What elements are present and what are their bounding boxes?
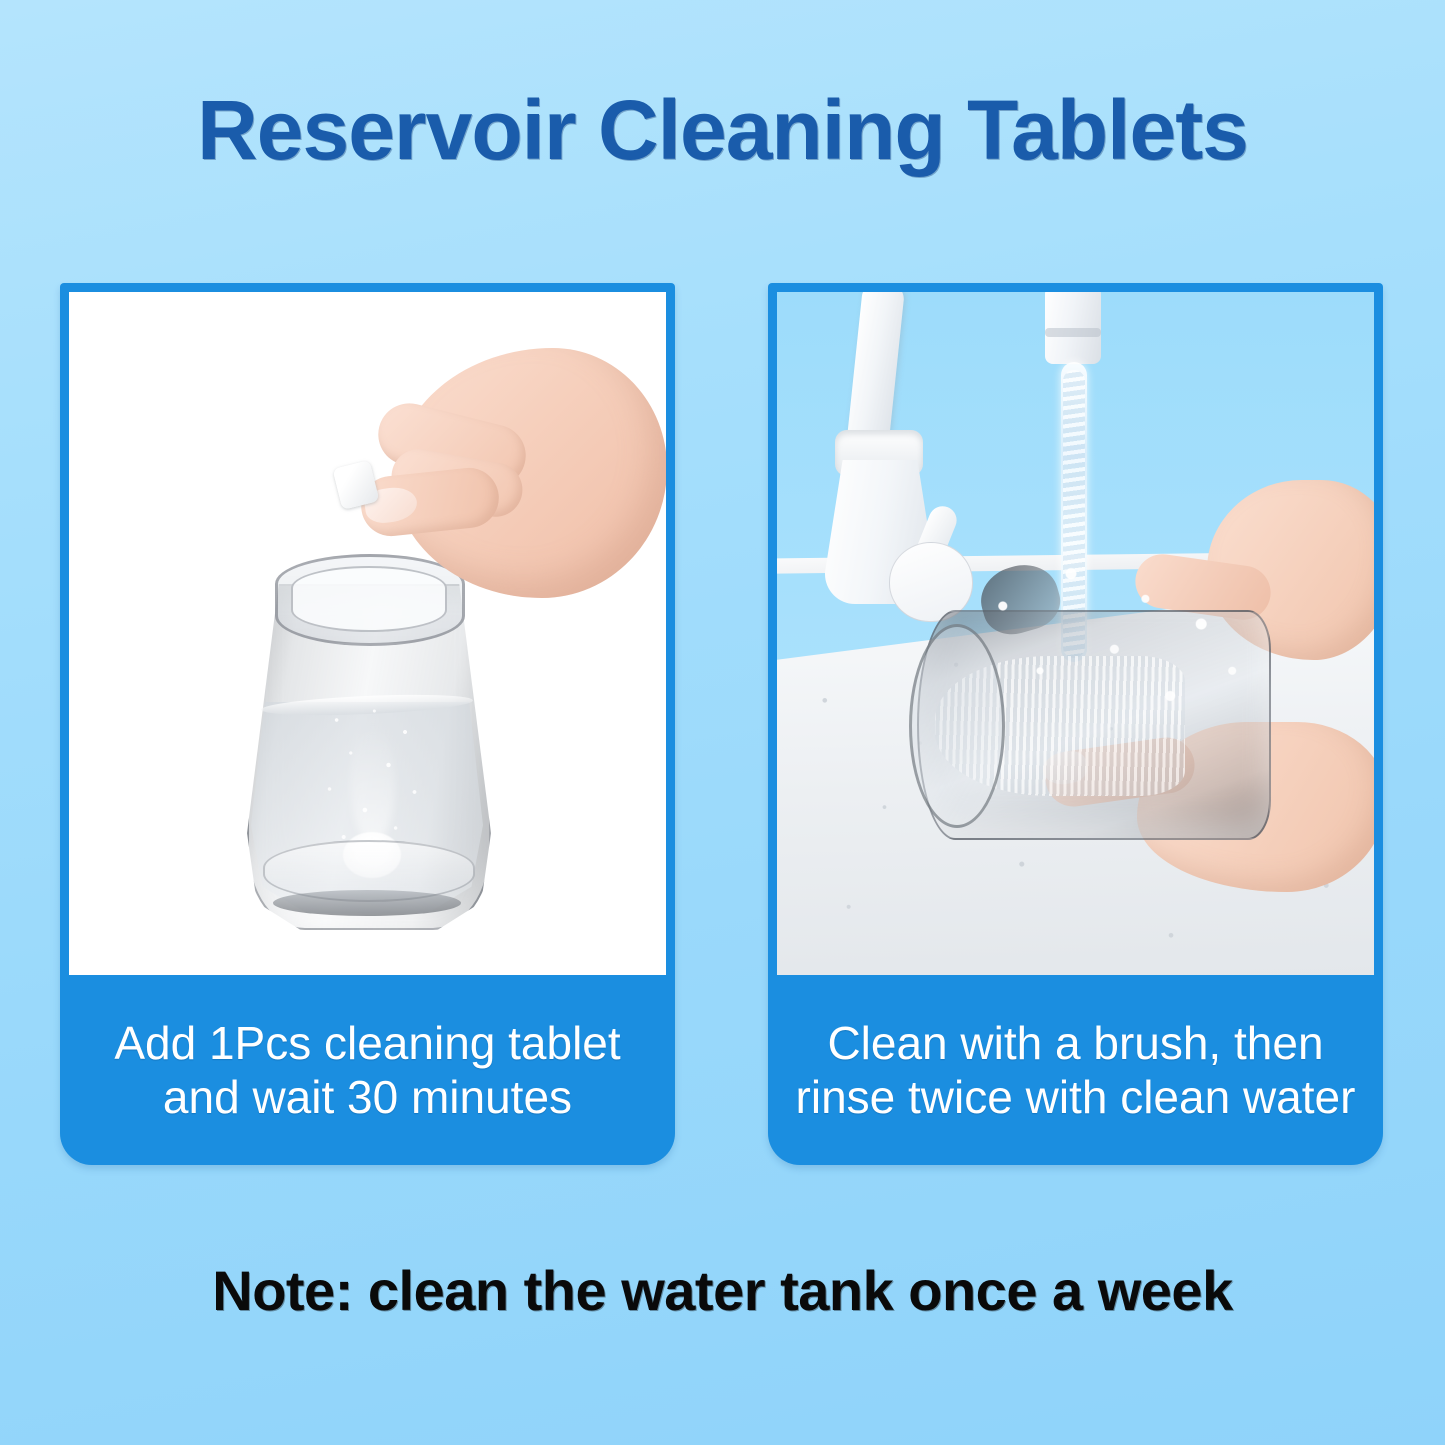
water-splash — [947, 552, 1257, 732]
hand-holding-tablet — [337, 348, 666, 638]
faucet-aerator-ring — [1045, 328, 1101, 337]
step-1-caption-line-2: and wait 30 minutes — [114, 1070, 620, 1124]
step-1-caption-line-1: Add 1Pcs cleaning tablet — [114, 1016, 620, 1070]
step-1-photo — [69, 292, 666, 975]
page-title: Reservoir Cleaning Tablets — [0, 88, 1445, 172]
step-2-caption-line-1: Clean with a brush, then — [796, 1016, 1356, 1070]
steps-container: Add 1Pcs cleaning tablet and wait 30 min… — [0, 283, 1445, 1168]
tablet-bubbles — [313, 702, 431, 852]
step-1-caption: Add 1Pcs cleaning tablet and wait 30 min… — [60, 975, 675, 1165]
tank-base — [273, 890, 461, 916]
cleaning-tablet — [332, 460, 379, 510]
step-card-2: Clean with a brush, then rinse twice wit… — [768, 283, 1383, 1165]
note-text: Note: clean the water tank once a week — [0, 1258, 1445, 1323]
step-card-1: Add 1Pcs cleaning tablet and wait 30 min… — [60, 283, 675, 1165]
step-2-photo — [777, 292, 1374, 975]
step-2-caption: Clean with a brush, then rinse twice wit… — [768, 975, 1383, 1165]
step-2-caption-line-2: rinse twice with clean water — [796, 1070, 1356, 1124]
